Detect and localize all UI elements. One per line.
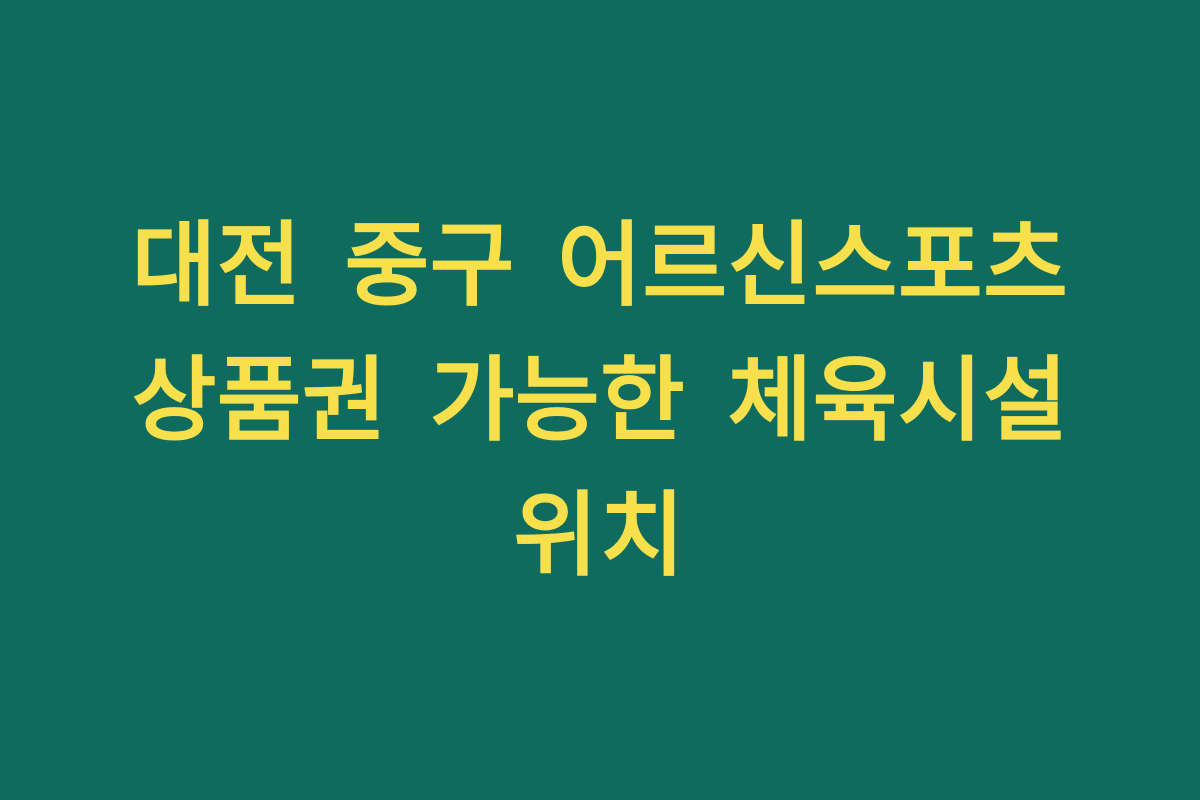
banner-heading: 대전 중구 어르신스포츠 상품권 가능한 체육시설 위치 [70,198,1130,603]
heading-line-1: 대전 중구 어르신스포츠 [70,198,1130,333]
heading-line-2: 상품권 가능한 체육시설 [70,333,1130,468]
heading-line-3: 위치 [70,468,1130,603]
text-banner-canvas: 대전 중구 어르신스포츠 상품권 가능한 체육시설 위치 [0,0,1200,800]
